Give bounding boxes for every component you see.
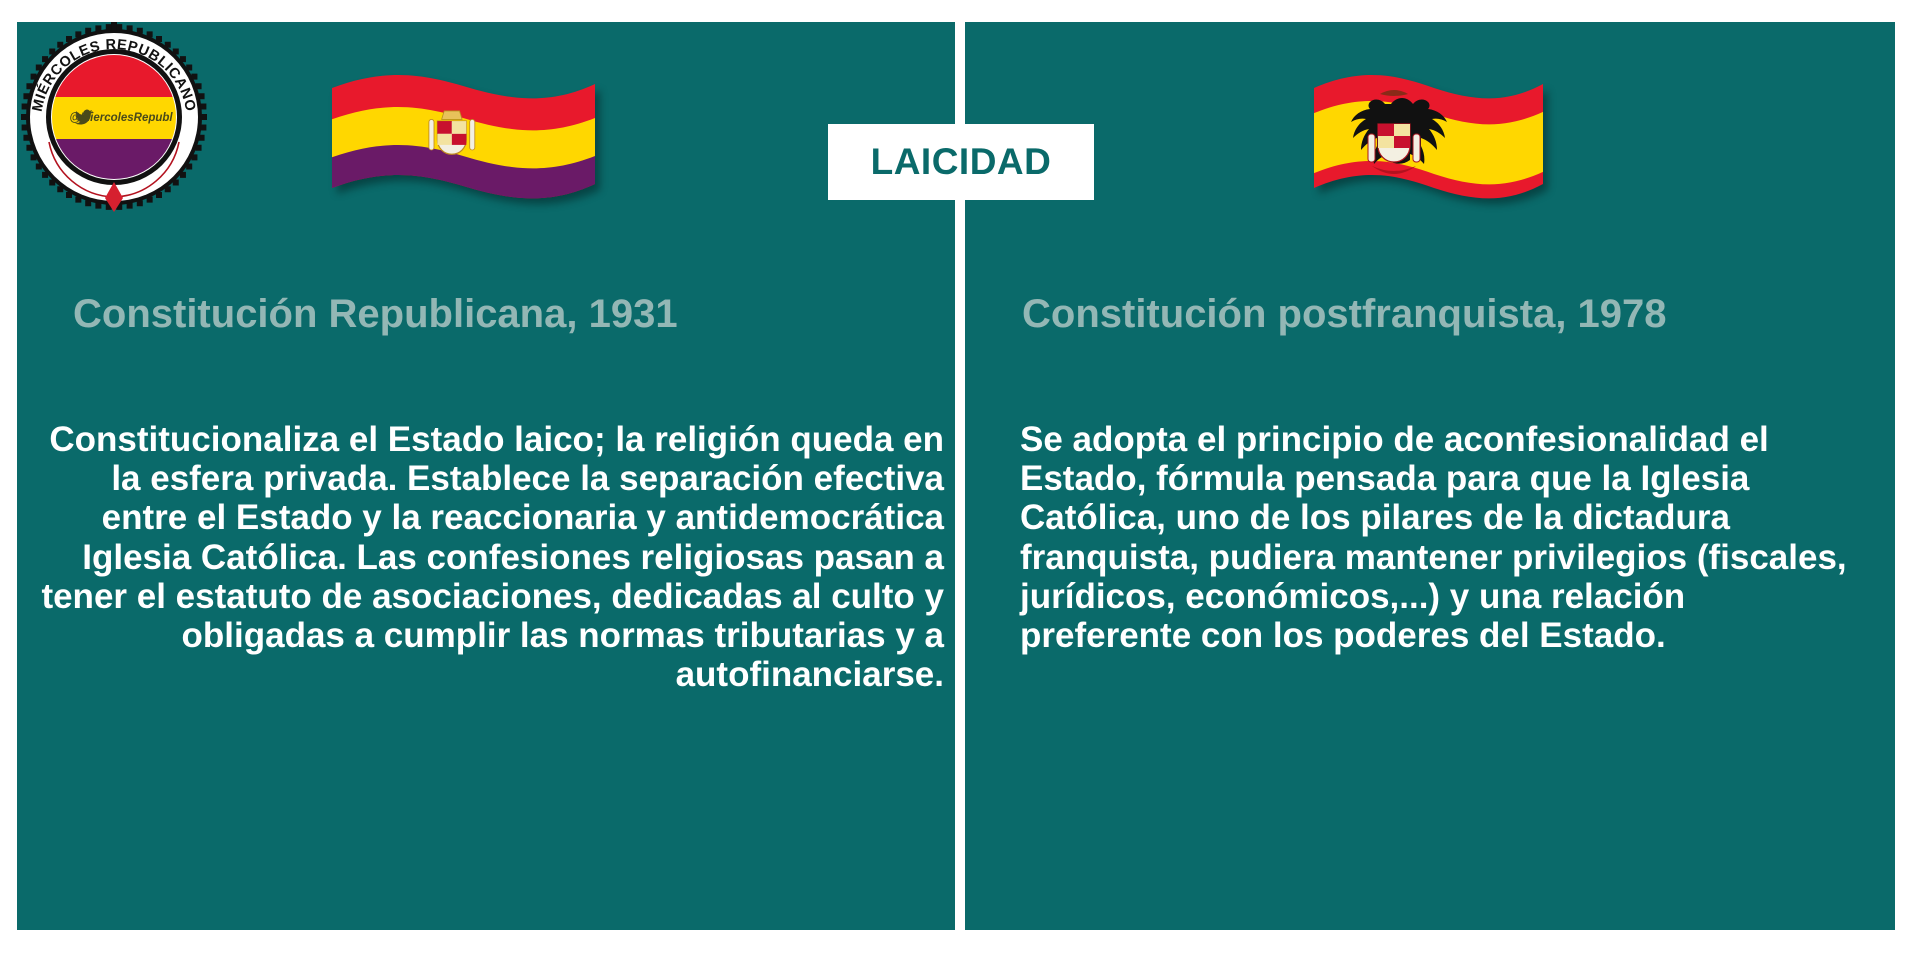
laicidad-label-text: LAICIDAD	[871, 141, 1052, 183]
body-postfranquista-1978: Se adopta el principio de aconfesionalid…	[1020, 420, 1850, 655]
heading-republicana-1931: Constitución Republicana, 1931	[73, 292, 678, 337]
body-republicana-1931: Constitucionaliza el Estado laico; la re…	[36, 420, 944, 694]
miercoles-republicano-logo: MIÉRCOLES REPUBLICANO @MiercolesRepubl	[19, 22, 209, 212]
logo-twitter-handle: @MiercolesRepubl	[69, 112, 173, 124]
spanish-republican-tricolor-flag	[330, 58, 600, 213]
laicidad-label-box: LAICIDAD	[828, 124, 1094, 200]
heading-postfranquista-1978: Constitución postfranquista, 1978	[1022, 292, 1667, 337]
infographic-canvas: MIÉRCOLES REPUBLICANO @MiercolesRepubl	[0, 0, 1920, 960]
logo-badge-icon: MIÉRCOLES REPUBLICANO @MiercolesRepubl	[19, 22, 209, 212]
spanish-francoist-eagle-flag	[1312, 58, 1547, 213]
